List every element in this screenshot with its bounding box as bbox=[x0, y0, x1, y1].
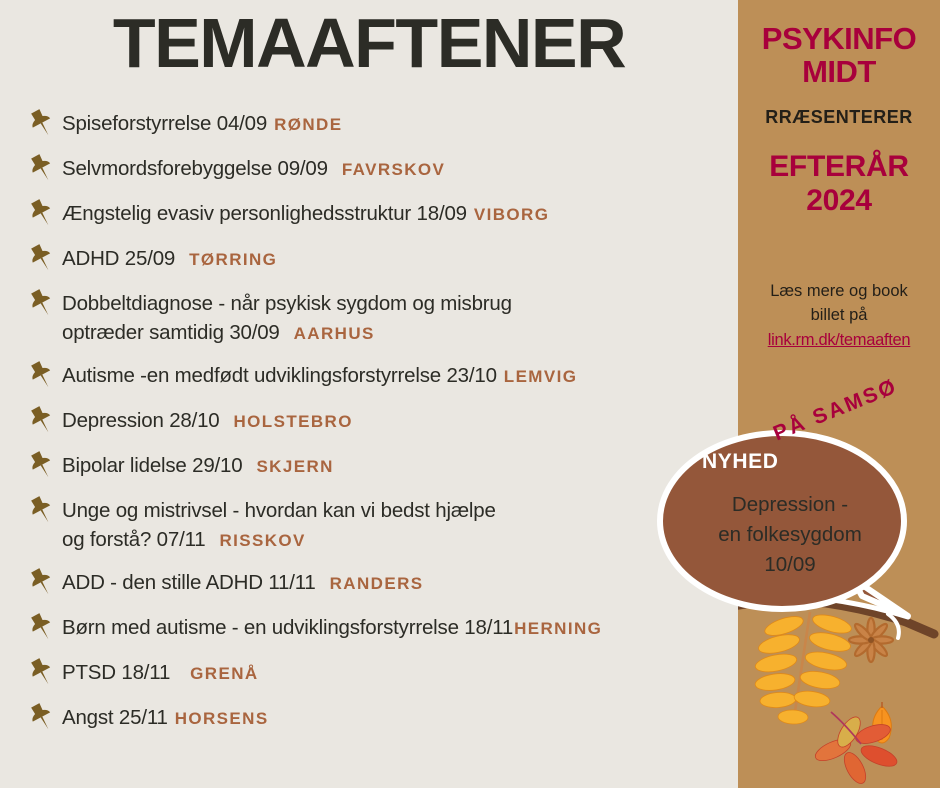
event-date: 09/09 bbox=[278, 157, 328, 180]
event-title: PTSD bbox=[62, 661, 121, 684]
pushpin-icon bbox=[26, 289, 56, 319]
pushpin-icon bbox=[26, 703, 56, 733]
season-heading: EFTERÅR 2024 bbox=[738, 150, 940, 218]
event-title-cont: optræder samtidig bbox=[62, 321, 229, 344]
event-title-line-1: Angst 25/11HORSENS bbox=[62, 703, 269, 733]
event-date: 18/09 bbox=[417, 202, 467, 225]
event-title-line-2: optræder samtidig 30/09AARHUS bbox=[62, 318, 512, 348]
event-city: FAVRSKOV bbox=[342, 160, 445, 179]
event-title-line-1: Ængstelig evasiv personlighedsstruktur 1… bbox=[62, 199, 549, 229]
event-city: HERNING bbox=[514, 619, 602, 638]
brand-line-2: MIDT bbox=[738, 55, 940, 88]
event-title: Ængstelig evasiv personlighedsstruktur bbox=[62, 202, 417, 225]
event-date: 29/10 bbox=[192, 454, 242, 477]
event-title-line-1: PTSD 18/11GRENÅ bbox=[62, 658, 259, 688]
event-date: 23/10 bbox=[446, 364, 496, 387]
event-city: SKJERN bbox=[256, 457, 333, 476]
event-row[interactable]: Angst 25/11HORSENS bbox=[26, 702, 740, 733]
pushpin-icon bbox=[26, 568, 56, 598]
event-title-line-1: Autisme -en medfødt udviklingsforstyrrel… bbox=[62, 361, 577, 391]
event-title-line-1: Unge og mistrivsel - hvordan kan vi beds… bbox=[62, 496, 496, 525]
event-city: AARHUS bbox=[294, 324, 375, 343]
brand-line-1: PSYKINFO bbox=[738, 22, 940, 55]
event-date: 18/11 bbox=[464, 616, 513, 639]
event-title-line-1: ADD - den stille ADHD 11/11RANDERS bbox=[62, 568, 424, 598]
pushpin-icon bbox=[26, 361, 56, 391]
page-title: TEMAAFTENER bbox=[0, 8, 738, 79]
event-date: 18/11 bbox=[121, 661, 170, 684]
booking-line-2: billet på bbox=[744, 304, 934, 327]
event-text: Selvmordsforebyggelse 09/09FAVRSKOV bbox=[62, 153, 445, 184]
event-city: RISSKOV bbox=[219, 531, 305, 550]
booking-link[interactable]: link.rm.dk/temaaften bbox=[744, 329, 934, 352]
bubble-line-1: Depression - bbox=[674, 490, 906, 520]
event-title-line-2: og forstå? 07/11RISSKOV bbox=[62, 525, 496, 555]
event-title: Angst bbox=[62, 706, 119, 729]
event-title-line-1: Depression 28/10HOLSTEBRO bbox=[62, 406, 353, 436]
pushpin-icon bbox=[26, 199, 56, 229]
event-date: 25/09 bbox=[125, 247, 175, 270]
event-title: Spiseforstyrrelse bbox=[62, 112, 217, 135]
news-speech-bubble: NYHED Depression - en folkesygdom 10/09 bbox=[656, 428, 924, 628]
event-text: ADHD 25/09TØRRING bbox=[62, 243, 277, 274]
event-row[interactable]: ADHD 25/09TØRRING bbox=[26, 243, 740, 274]
event-date: 28/10 bbox=[169, 409, 219, 432]
event-list: Spiseforstyrrelse 04/09RØNDESelvmordsfor… bbox=[26, 108, 740, 747]
bubble-line-3: 10/09 bbox=[674, 550, 906, 580]
event-text: Spiseforstyrrelse 04/09RØNDE bbox=[62, 108, 342, 139]
season-line-1: EFTERÅR bbox=[738, 150, 940, 184]
event-title: Depression bbox=[62, 409, 169, 432]
event-title-cont: og forstå? bbox=[62, 528, 157, 551]
event-row[interactable]: Depression 28/10HOLSTEBRO bbox=[26, 405, 740, 436]
event-text: Børn med autisme - en udviklingsforstyrr… bbox=[62, 612, 602, 643]
event-city: HORSENS bbox=[175, 709, 269, 728]
pushpin-icon bbox=[26, 613, 56, 643]
poster-canvas: TEMAAFTENER Spiseforstyrrelse 04/09RØNDE… bbox=[0, 0, 940, 788]
pushpin-icon bbox=[26, 451, 56, 481]
event-title: ADHD bbox=[62, 247, 125, 270]
event-date: 07/11 bbox=[157, 528, 206, 551]
event-text: Angst 25/11HORSENS bbox=[62, 702, 269, 733]
presents-label: RRÆSENTERER bbox=[738, 107, 940, 128]
pushpin-icon bbox=[26, 109, 56, 139]
event-title-line-1: Spiseforstyrrelse 04/09RØNDE bbox=[62, 109, 342, 139]
event-title-line-1: ADHD 25/09TØRRING bbox=[62, 244, 277, 274]
pushpin-icon bbox=[26, 496, 56, 526]
event-city: HOLSTEBRO bbox=[234, 412, 353, 431]
event-text: Depression 28/10HOLSTEBRO bbox=[62, 405, 353, 436]
booking-line-1: Læs mere og book bbox=[744, 280, 934, 303]
event-row[interactable]: Børn med autisme - en udviklingsforstyrr… bbox=[26, 612, 740, 643]
event-text: ADD - den stille ADHD 11/11RANDERS bbox=[62, 567, 424, 598]
season-line-2: 2024 bbox=[738, 184, 940, 218]
event-title-line-1: Bipolar lidelse 29/10SKJERN bbox=[62, 451, 334, 481]
event-title-line-1: Selvmordsforebyggelse 09/09FAVRSKOV bbox=[62, 154, 445, 184]
event-text: Bipolar lidelse 29/10SKJERN bbox=[62, 450, 334, 481]
event-city: TØRRING bbox=[189, 250, 277, 269]
booking-info: Læs mere og book billet på link.rm.dk/te… bbox=[738, 280, 940, 352]
bubble-content: NYHED Depression - en folkesygdom 10/09 bbox=[656, 428, 924, 614]
pushpin-icon bbox=[26, 658, 56, 688]
event-date: 04/09 bbox=[217, 112, 267, 135]
event-title: Selvmordsforebyggelse bbox=[62, 157, 278, 180]
event-city: GRENÅ bbox=[190, 664, 258, 683]
sidebar: PSYKINFO MIDT RRÆSENTERER EFTERÅR 2024 L… bbox=[738, 0, 940, 788]
event-title-line-1: Børn med autisme - en udviklingsforstyrr… bbox=[62, 613, 602, 643]
main-column: TEMAAFTENER Spiseforstyrrelse 04/09RØNDE… bbox=[0, 0, 738, 788]
event-row[interactable]: Bipolar lidelse 29/10SKJERN bbox=[26, 450, 740, 481]
event-row[interactable]: Selvmordsforebyggelse 09/09FAVRSKOV bbox=[26, 153, 740, 184]
event-title: ADD - den stille ADHD bbox=[62, 571, 268, 594]
event-city: LEMVIG bbox=[504, 367, 578, 386]
event-row[interactable]: PTSD 18/11GRENÅ bbox=[26, 657, 740, 688]
event-text: Autisme -en medfødt udviklingsforstyrrel… bbox=[62, 360, 577, 391]
event-title-line-1: Dobbeltdiagnose - når psykisk sygdom og … bbox=[62, 289, 512, 318]
event-text: PTSD 18/11GRENÅ bbox=[62, 657, 259, 688]
event-text: Ængstelig evasiv personlighedsstruktur 1… bbox=[62, 198, 549, 229]
event-row[interactable]: Unge og mistrivsel - hvordan kan vi beds… bbox=[26, 495, 740, 555]
bubble-line-2: en folkesygdom bbox=[674, 520, 906, 550]
brand-name: PSYKINFO MIDT bbox=[738, 22, 940, 89]
event-city: VIBORG bbox=[474, 205, 549, 224]
event-date: 25/11 bbox=[119, 706, 168, 729]
event-text: Unge og mistrivsel - hvordan kan vi beds… bbox=[62, 495, 496, 555]
event-city: RANDERS bbox=[330, 574, 424, 593]
bubble-body: Depression - en folkesygdom 10/09 bbox=[674, 490, 906, 580]
new-badge: NYHED bbox=[702, 450, 779, 474]
event-text: Dobbeltdiagnose - når psykisk sygdom og … bbox=[62, 288, 512, 348]
event-title: Bipolar lidelse bbox=[62, 454, 192, 477]
pushpin-icon bbox=[26, 406, 56, 436]
event-date: 11/11 bbox=[268, 571, 315, 594]
event-row[interactable]: ADD - den stille ADHD 11/11RANDERS bbox=[26, 567, 740, 598]
event-row[interactable]: Spiseforstyrrelse 04/09RØNDE bbox=[26, 108, 740, 139]
event-title: Autisme -en medfødt udviklingsforstyrrel… bbox=[62, 364, 446, 387]
pushpin-icon bbox=[26, 244, 56, 274]
event-date: 30/09 bbox=[229, 321, 279, 344]
pushpin-icon bbox=[26, 154, 56, 184]
event-row[interactable]: Dobbeltdiagnose - når psykisk sygdom og … bbox=[26, 288, 740, 348]
event-city: RØNDE bbox=[274, 115, 342, 134]
event-row[interactable]: Ængstelig evasiv personlighedsstruktur 1… bbox=[26, 198, 740, 229]
event-row[interactable]: Autisme -en medfødt udviklingsforstyrrel… bbox=[26, 360, 740, 391]
event-title: Børn med autisme - en udviklingsforstyrr… bbox=[62, 616, 464, 639]
